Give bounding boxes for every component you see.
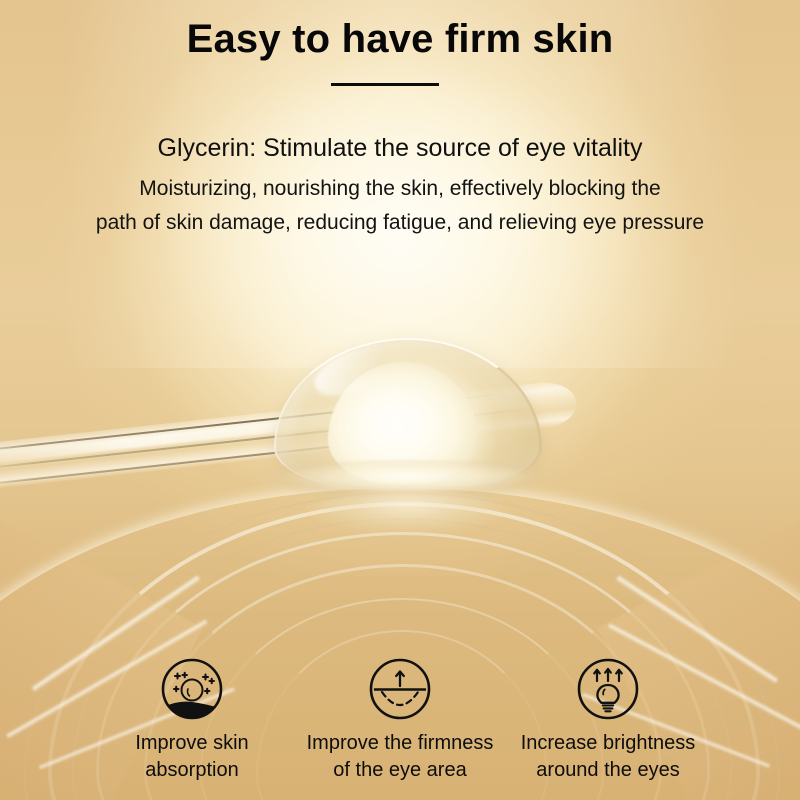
skin-absorption-icon bbox=[159, 656, 225, 722]
feature-item-brightness: Increase brightness around the eyes bbox=[508, 656, 708, 784]
title-divider bbox=[331, 83, 439, 86]
description: Moisturizing, nourishing the skin, effec… bbox=[0, 172, 800, 240]
description-line-2: path of skin damage, reducing fatigue, a… bbox=[0, 206, 800, 240]
feature-label-brightness: Increase brightness around the eyes bbox=[508, 730, 708, 784]
page-title: Easy to have firm skin bbox=[0, 16, 800, 62]
feature-label-absorption: Improve skin absorption bbox=[92, 730, 292, 784]
brightness-bulb-icon bbox=[575, 656, 641, 722]
droplet-reflection bbox=[285, 490, 532, 564]
subtitle: Glycerin: Stimulate the source of eye vi… bbox=[0, 133, 800, 163]
feature-item-absorption: Improve skin absorption bbox=[92, 656, 292, 784]
feature-list: Improve skin absorption Improve the firm… bbox=[0, 656, 800, 784]
feature-item-firmness: Improve the firmness of the eye area bbox=[300, 656, 500, 784]
gel-droplet bbox=[274, 338, 542, 490]
product-poster: Easy to have firm skin Glycerin: Stimula… bbox=[0, 0, 800, 800]
feature-label-firmness: Improve the firmness of the eye area bbox=[300, 730, 500, 784]
eye-firmness-icon bbox=[367, 656, 433, 722]
description-line-1: Moisturizing, nourishing the skin, effec… bbox=[0, 172, 800, 206]
